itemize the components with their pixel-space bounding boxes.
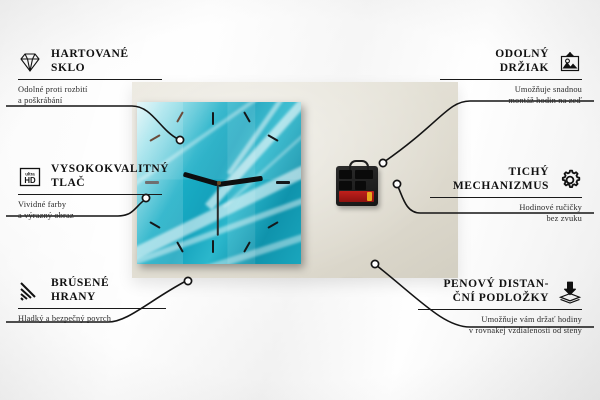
diamond-icon (18, 50, 42, 74)
picture-hanger-icon (558, 50, 582, 74)
feature-title-line2: TLAČ (51, 177, 169, 191)
feature-silent-mechanism: TICHÝ MECHANIZMUS Hodinové ručičky bez z… (430, 166, 582, 224)
svg-text:HD: HD (24, 176, 36, 185)
feature-sub-line2: montáž hodin na zeď (440, 95, 582, 106)
feature-sub-line1: Hladký a bezpečný povrch (18, 313, 166, 324)
feature-divider (418, 309, 582, 310)
feature-title-line2: MECHANIZMUS (453, 180, 549, 194)
ultra-hd-icon: ultra HD (18, 165, 42, 189)
feature-high-quality-print: ultra HD VYSOKOKVALITNÝ TLAČ Vividné far… (18, 163, 162, 221)
feature-sub-line2: a poškrábání (18, 95, 162, 106)
feature-title-line2: SKLO (51, 62, 129, 76)
gear-icon (558, 168, 582, 192)
feature-sub-line1: Odolné proti rozbití (18, 84, 162, 95)
feature-sub-line1: Hodinové ručičky (430, 202, 582, 213)
feature-sub-line2: bez zvuku (430, 213, 582, 224)
feature-title-line2: DRŽIAK (500, 62, 549, 76)
feature-divider (18, 194, 162, 195)
feature-sub-line2: v rovnakej vzdialenosti od steny (418, 325, 582, 336)
feature-title-line1: TICHÝ (509, 166, 549, 180)
feature-hardened-glass: HARTOVANÉ SKLO Odolné proti rozbití a po… (18, 48, 162, 106)
feature-title-line1: HARTOVANÉ (51, 48, 129, 62)
feature-title-line1: VYSOKOKVALITNÝ (51, 163, 169, 177)
clock-center-pivot (217, 181, 221, 185)
clock-mechanism (336, 166, 378, 206)
feature-divider (430, 197, 582, 198)
feature-sub-line1: Vividné farby (18, 199, 162, 210)
product-photo (132, 82, 458, 278)
feature-divider (18, 79, 162, 80)
feature-title-line2: ČNÍ PODLOŽKY (453, 292, 549, 306)
mechanism-battery (339, 191, 374, 202)
feature-durable-holder: ODOLNÝ DRŽIAK Umožňuje snadnou montáž ho… (440, 48, 582, 106)
feature-title-line2: HRANY (51, 291, 109, 305)
feature-divider (440, 79, 582, 80)
feature-divider (18, 308, 166, 309)
feature-sub-line2: a výrazný obraz (18, 210, 162, 221)
clock-second-hand (217, 184, 219, 236)
feature-title-line1: ODOLNÝ (495, 48, 549, 62)
connector-node-edges (184, 277, 191, 284)
feature-title-line1: BRÚSENÉ (51, 277, 109, 291)
feature-title-line1: PENOVÝ DISTAN- (443, 278, 549, 292)
polished-edges-icon (18, 279, 42, 303)
feature-foam-spacer-pads: PENOVÝ DISTAN- ČNÍ PODLOŽKY Umožňuje vám… (418, 278, 582, 336)
feature-polished-edges: BRÚSENÉ HRANY Hladký a bezpečný povrch (18, 277, 166, 324)
feature-sub-line1: Umožňuje snadnou (440, 84, 582, 95)
feature-sub-line1: Umožňuje vám držať hodiny (418, 314, 582, 325)
foam-pad-arrow-icon (558, 280, 582, 304)
